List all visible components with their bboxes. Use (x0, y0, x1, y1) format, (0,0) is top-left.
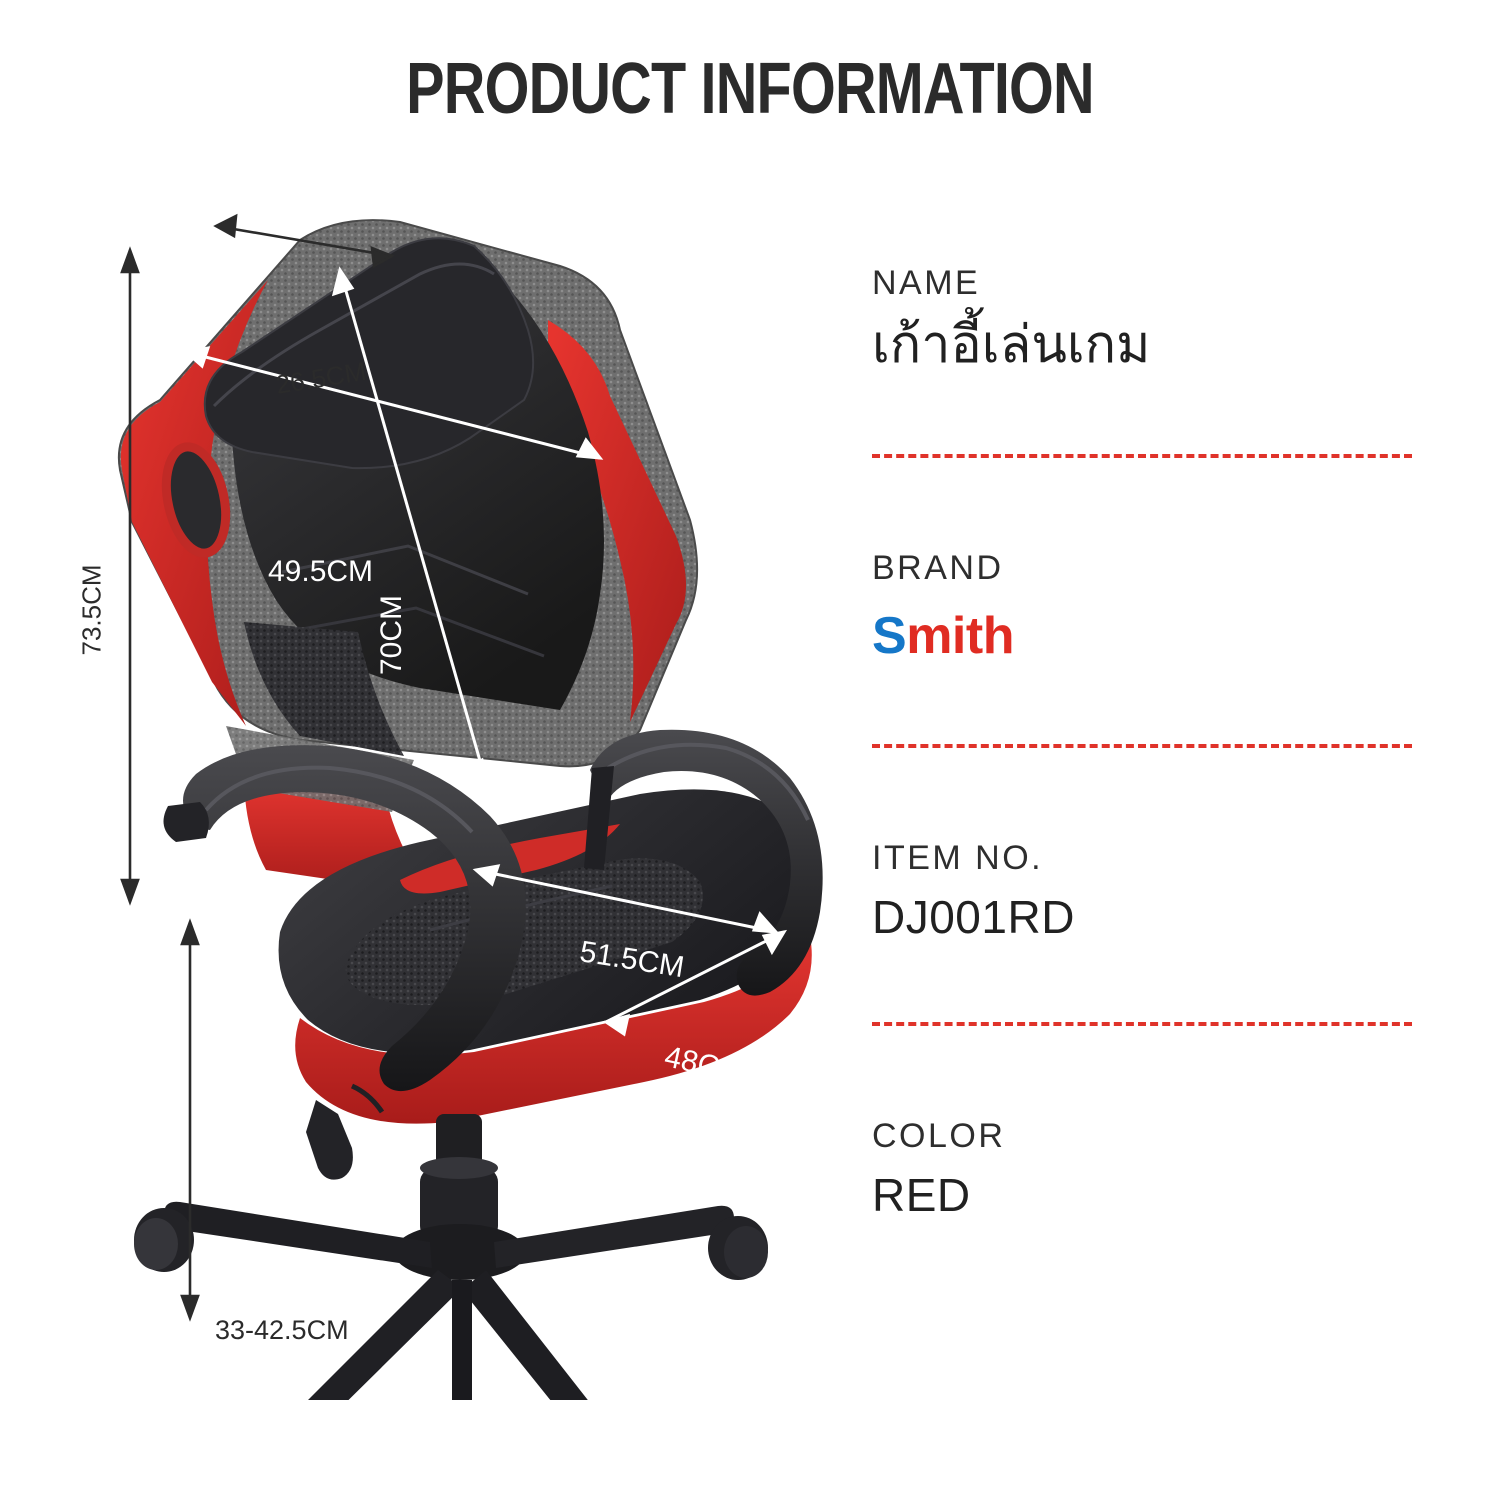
info-row-item-no: ITEM NO. DJ001RD (872, 840, 1412, 944)
dimension-label-backrest-width: 49.5CM (268, 555, 373, 589)
dimension-label-backrest-height: 70CM (375, 595, 409, 675)
brand-logo-initial: S (872, 607, 906, 665)
info-value-item-no: DJ001RD (872, 891, 1412, 944)
info-row-brand: BRAND Smith (872, 550, 1412, 665)
height-adjust-lever (306, 1100, 353, 1180)
info-label-brand: BRAND (872, 550, 1412, 587)
dimension-label-seat-height-range: 33-42.5CM (215, 1315, 349, 1346)
info-row-name: NAME เก้าอี้เล่นเกม (872, 265, 1412, 376)
brand-logo-rest: mith (906, 607, 1014, 665)
info-label-name: NAME (872, 265, 1412, 302)
product-info-panel: NAME เก้าอี้เล่นเกม BRAND Smith ITEM NO.… (872, 265, 1412, 1222)
page-title: PRODUCT INFORMATION (150, 48, 1350, 130)
gaming-chair-illustration (0, 170, 860, 1400)
info-label-item-no: ITEM NO. (872, 840, 1412, 877)
armrest-left-endcap (164, 802, 209, 842)
dimension-label-total-height: 73.5CM (77, 564, 108, 655)
brand-logo: Smith (872, 606, 1412, 666)
info-value-name: เก้าอี้เล่นเกม (872, 316, 1412, 376)
info-row-color: COLOR RED (872, 1118, 1412, 1222)
info-label-color: COLOR (872, 1118, 1412, 1155)
info-value-color: RED (872, 1169, 1412, 1222)
product-photo-panel: 26.5CM 73.5CM 49.5CM 70CM 51.5CM 48CM 33… (0, 170, 860, 1400)
gas-cylinder-collar (420, 1157, 498, 1179)
